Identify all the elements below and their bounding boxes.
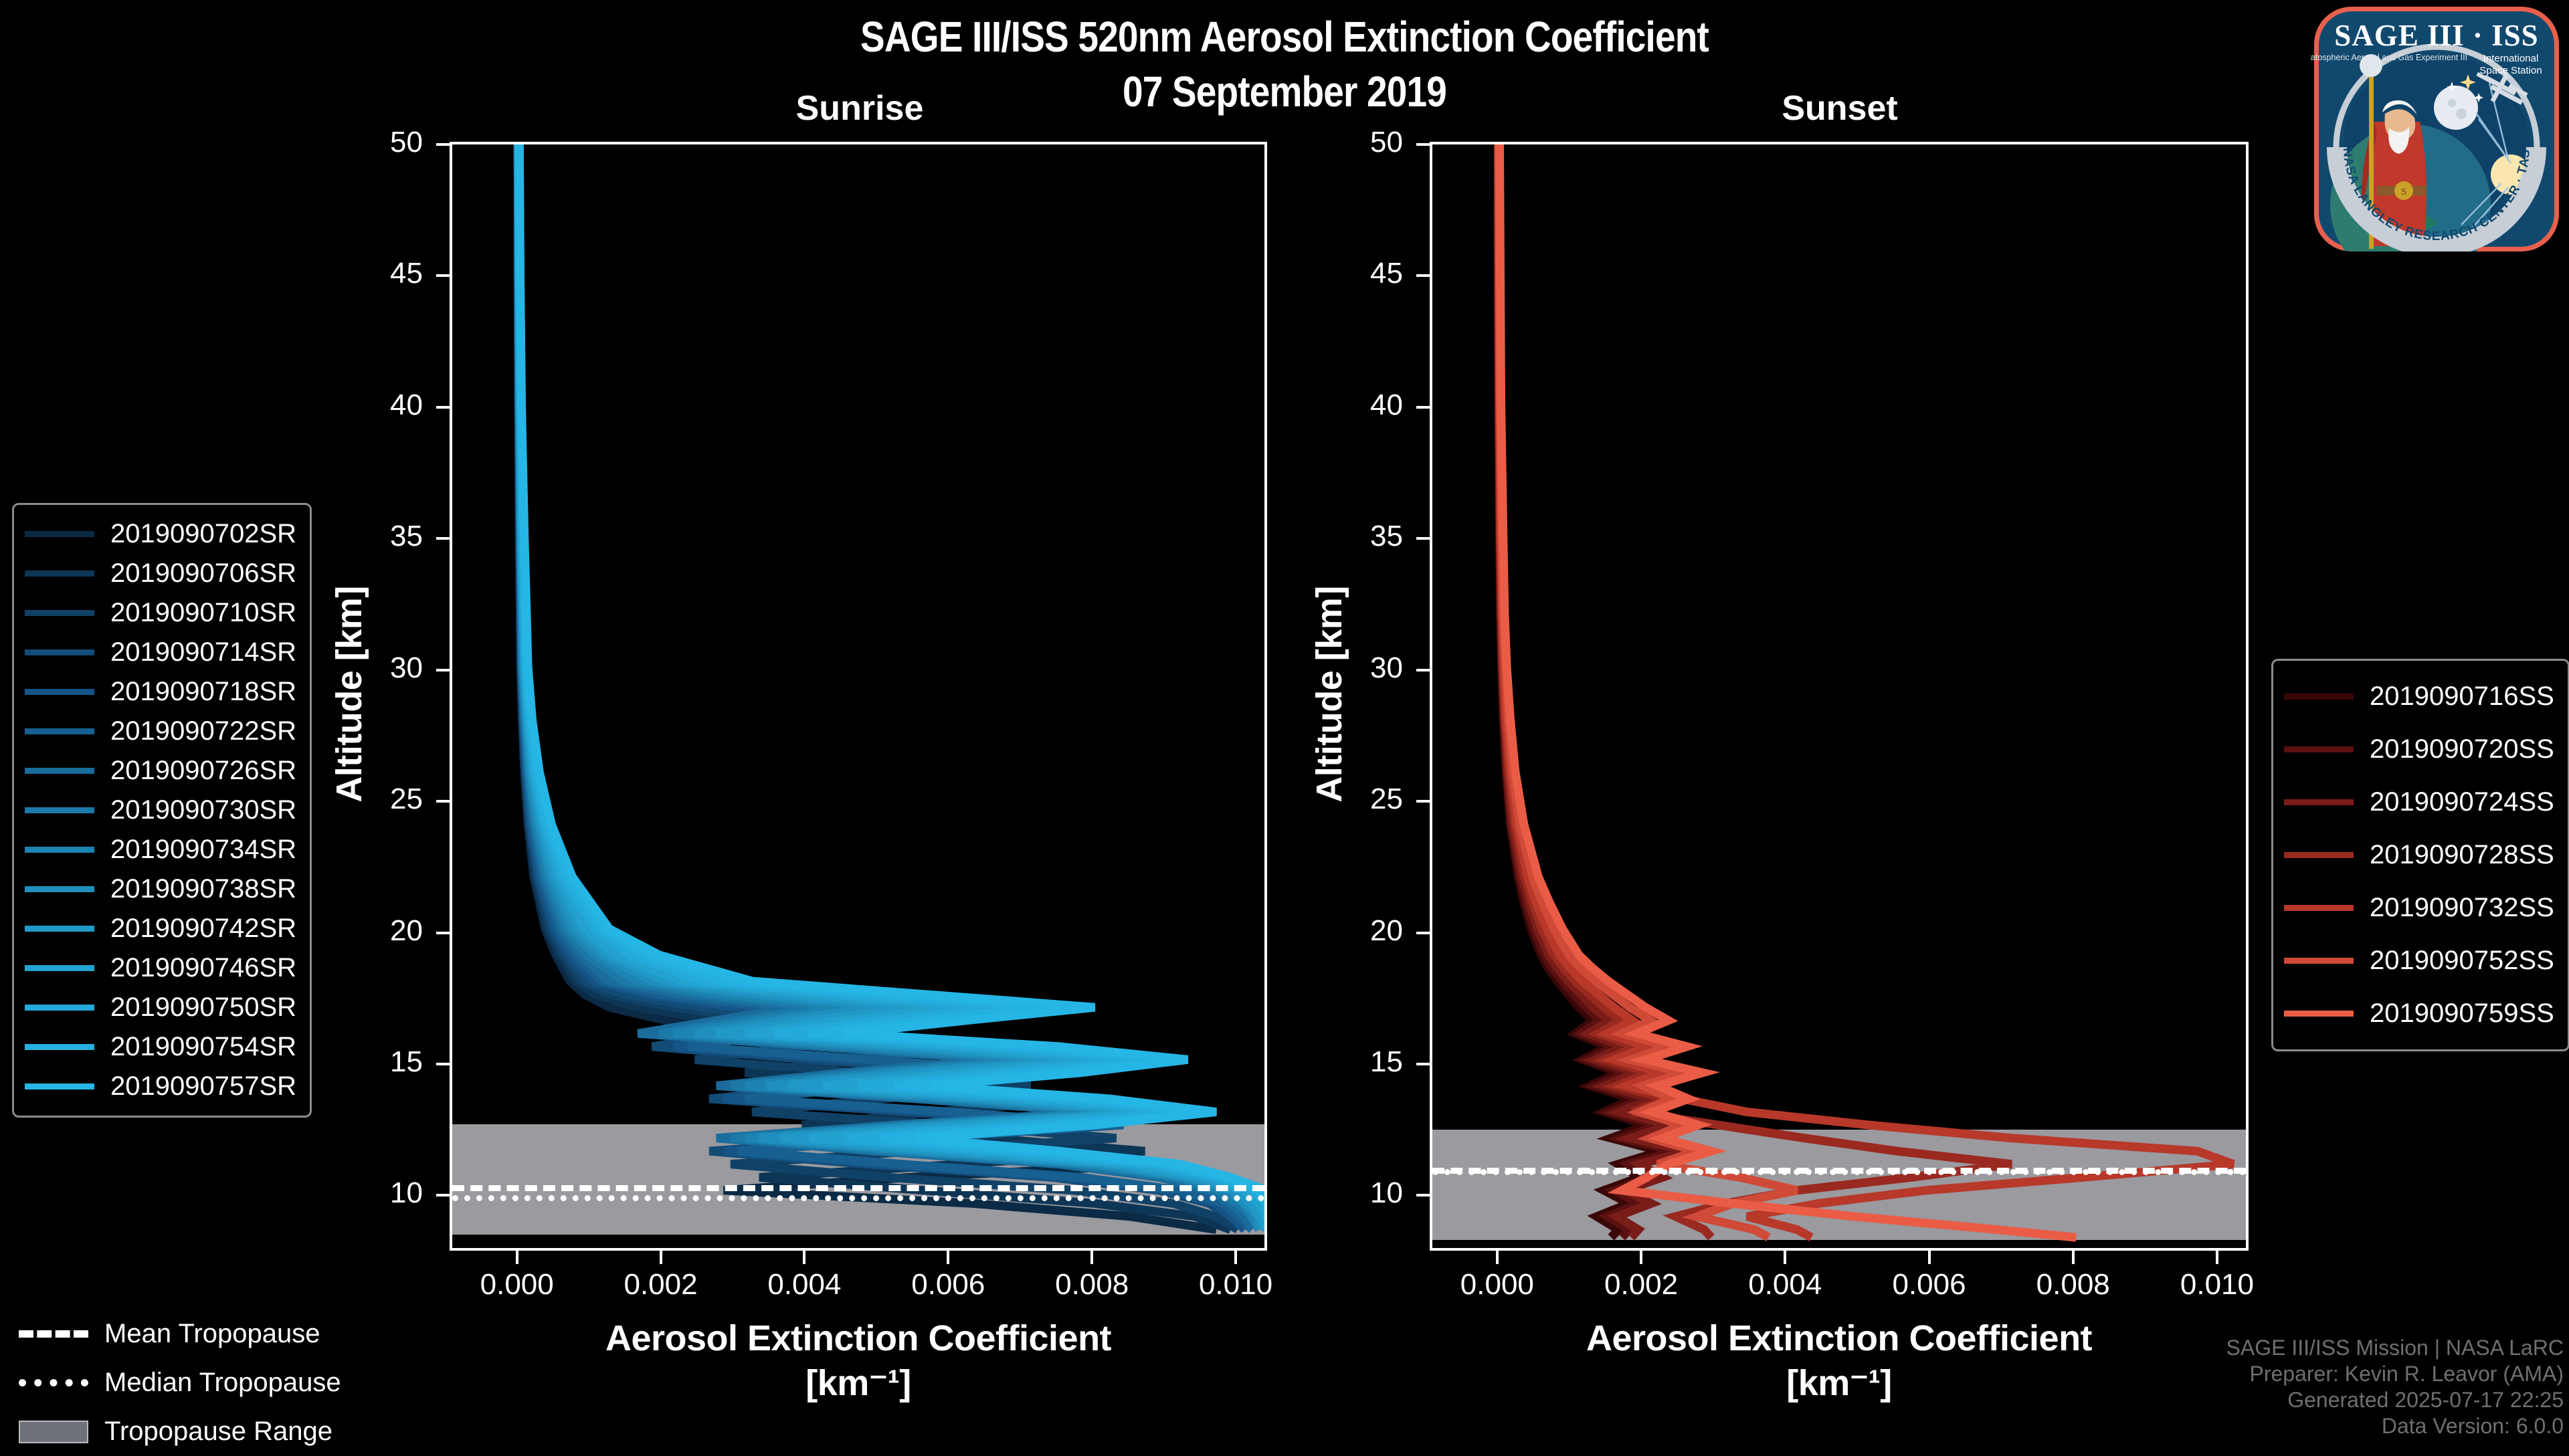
plot-area-sunset (1430, 142, 2249, 1251)
x-axis-tick (803, 1249, 805, 1264)
legend-item-label: 2019090726SR (110, 756, 296, 786)
legend-item[interactable]: 2019090710SR (25, 593, 296, 633)
legend-item[interactable]: 2019090738SR (25, 869, 296, 909)
legend-item-label: 2019090752SS (2370, 946, 2554, 976)
y-axis-tick (1416, 143, 1431, 146)
y-axis-tick-label: 20 (1296, 914, 1403, 948)
legend-item-label: 2019090730SR (110, 795, 296, 825)
x-axis-tick-label: 0.000 (437, 1268, 597, 1302)
x-axis-tick (1090, 1249, 1093, 1264)
legend-item-label: Mean Tropopause (104, 1319, 320, 1349)
legend-color-swatch (25, 570, 94, 577)
legend-color-swatch (2284, 905, 2354, 911)
x-axis-tick (2072, 1249, 2075, 1264)
legend-item-label: 2019090718SR (110, 677, 296, 707)
y-axis-tick (1416, 406, 1431, 409)
legend-item-label: 2019090738SR (110, 874, 296, 904)
legend-item-label: 2019090734SR (110, 835, 296, 865)
median-tropopause-swatch (19, 1379, 88, 1386)
y-axis-title: Altitude [km] (1309, 560, 1350, 828)
x-axis-unit: [km⁻¹] (1404, 1362, 2274, 1404)
x-axis-tick-label: 0.002 (581, 1268, 741, 1302)
legend-item[interactable]: 2019090722SR (25, 712, 296, 751)
profile-line (1500, 144, 2077, 1237)
legend-color-swatch (25, 1083, 94, 1089)
x-axis-tick-label: 0.004 (1705, 1268, 1865, 1302)
legend-color-swatch (25, 847, 94, 853)
y-axis-tick-label: 40 (1296, 389, 1403, 422)
y-axis-tick (436, 1063, 451, 1065)
legend-item-label: Median Tropopause (104, 1368, 341, 1398)
y-axis-tick (1416, 1063, 1431, 1065)
panel-subtitle-sunrise: Sunrise (726, 88, 993, 128)
y-axis-tick (1416, 669, 1431, 671)
legend-color-swatch (2284, 1011, 2354, 1017)
legend-item: Tropopause Range (19, 1407, 341, 1456)
x-axis-tick-label: 0.010 (1155, 1268, 1316, 1302)
x-axis-tick (2216, 1249, 2218, 1264)
y-axis-tick (436, 274, 451, 277)
legend-color-swatch (25, 886, 94, 892)
legend-color-swatch (25, 926, 94, 932)
legend-item-label: 2019090750SR (110, 993, 296, 1023)
y-axis-tick-label: 50 (316, 126, 423, 159)
x-axis-title-text: Aerosol Extinction Coefficient (1586, 1318, 2092, 1358)
sage-iii-iss-mission-patch-logo: S BALL · NASA LANGLEY RESEARCH CENTER · … (2310, 4, 2563, 254)
x-axis-tick-label: 0.006 (868, 1268, 1028, 1302)
legend-item[interactable]: 2019090754SR (25, 1027, 296, 1067)
legend-item-label: 2019090710SR (110, 598, 296, 628)
legend-item-label: 2019090732SS (2370, 893, 2554, 923)
y-axis-tick-label: 45 (316, 257, 423, 290)
legend-item-label: 2019090759SS (2370, 999, 2554, 1029)
y-axis-tick-label: 10 (316, 1176, 423, 1210)
legend-item-label: 2019090754SR (110, 1032, 296, 1062)
tropopause-range-swatch (19, 1421, 88, 1443)
legend-color-swatch (25, 689, 94, 695)
legend-color-swatch (25, 728, 94, 734)
legend-item-label: 2019090746SR (110, 953, 296, 983)
legend-color-swatch (25, 1044, 94, 1050)
legend-item[interactable]: 2019090716SS (2284, 670, 2554, 723)
logo-subtitle-left: Stratospheric Aerosol and Gas Experiment… (2310, 53, 2467, 62)
y-axis-tick-label: 35 (316, 520, 423, 553)
plot-area-sunrise (450, 142, 1267, 1251)
legend-item-label: 2019090714SR (110, 637, 296, 667)
legend-item[interactable]: 2019090730SR (25, 791, 296, 830)
x-axis-tick (1496, 1249, 1499, 1264)
legend-item-label: 2019090742SR (110, 914, 296, 944)
legend-item-label: 2019090724SS (2370, 787, 2554, 817)
legend-color-swatch (25, 649, 94, 655)
legend-item[interactable]: 2019090726SR (25, 751, 296, 791)
x-axis-tick-label: 0.010 (2137, 1268, 2297, 1302)
y-axis-tick (1416, 537, 1431, 540)
legend-color-swatch (25, 610, 94, 616)
x-axis-tick-label: 0.008 (1993, 1268, 2154, 1302)
legend-color-swatch (2284, 852, 2354, 858)
y-axis-tick (1416, 274, 1431, 277)
x-axis-tick (516, 1249, 518, 1264)
legend-color-swatch (2284, 746, 2354, 752)
y-axis-tick (436, 143, 451, 146)
legend-item[interactable]: 2019090759SS (2284, 987, 2554, 1040)
credits-block: SAGE III/ISS Mission | NASA LaRCPreparer… (2226, 1335, 2564, 1439)
legend-item[interactable]: 2019090752SS (2284, 934, 2554, 987)
y-axis-tick (436, 406, 451, 409)
logo-subtitle-right-line1: International (2483, 53, 2539, 64)
median-tropopause-line-sunset (1432, 1169, 2246, 1175)
x-axis-tick-label: 0.008 (1012, 1268, 1172, 1302)
legend-item: Median Tropopause (19, 1358, 341, 1407)
legend-item[interactable]: 2019090742SR (25, 909, 296, 948)
legend-sunset: 2019090716SS2019090720SS2019090724SS2019… (2271, 659, 2569, 1051)
y-axis-tick-label: 15 (316, 1045, 423, 1079)
logo-title: SAGE III · ISS (2334, 19, 2538, 52)
logo-subtitle-right-line2: Space Station (2479, 65, 2542, 76)
x-axis-tick (1234, 1249, 1237, 1264)
y-axis-tick-label: 20 (316, 914, 423, 948)
y-axis-tick (436, 669, 451, 671)
x-axis-unit: [km⁻¹] (423, 1362, 1293, 1404)
y-axis-tick-label: 10 (1296, 1176, 1403, 1210)
y-axis-tick-label: 45 (1296, 257, 1403, 290)
y-axis-title: Altitude [km] (328, 560, 370, 828)
legend-item[interactable]: 2019090732SS (2284, 881, 2554, 934)
profile-line (1498, 144, 2012, 1237)
legend-item-label: 2019090728SS (2370, 840, 2554, 870)
credits-line: SAGE III/ISS Mission | NASA LaRC (2226, 1335, 2564, 1361)
x-axis-tick (947, 1249, 949, 1264)
panel-subtitle-sunset: Sunset (1706, 88, 1974, 128)
legend-item-label: 2019090722SR (110, 716, 296, 746)
page-title-line2: 07 September 2019 (180, 67, 2389, 116)
x-axis-title-text: Aerosol Extinction Coefficient (605, 1318, 1111, 1358)
credits-line: Data Version: 6.0.0 (2226, 1413, 2564, 1439)
legend-color-swatch (25, 807, 94, 813)
legend-sunrise: 2019090702SR2019090706SR2019090710SR2019… (12, 503, 312, 1118)
legend-item[interactable]: 2019090757SR (25, 1067, 296, 1106)
mean-tropopause-line-sunrise (452, 1185, 1264, 1191)
mean-tropopause-swatch (19, 1330, 88, 1338)
y-axis-tick (436, 932, 451, 934)
legend-item-label: 2019090716SS (2370, 682, 2554, 712)
legend-color-swatch (25, 965, 94, 971)
legend-item[interactable]: 2019090720SS (2284, 723, 2554, 776)
legend-color-swatch (25, 1005, 94, 1011)
x-axis-tick (1784, 1249, 1786, 1264)
y-axis-tick (436, 800, 451, 803)
y-axis-tick (1416, 932, 1431, 934)
y-axis-tick-label: 35 (1296, 520, 1403, 553)
legend-item-label: 2019090720SS (2370, 734, 2554, 764)
y-axis-tick (1416, 800, 1431, 803)
legend-item[interactable]: 2019090734SR (25, 830, 296, 869)
y-axis-tick-label: 50 (1296, 126, 1403, 159)
svg-text:S: S (2401, 187, 2406, 197)
legend-item-label: 2019090706SR (110, 558, 296, 589)
page-title-line1: SAGE III/ISS 520nm Aerosol Extinction Co… (180, 12, 2389, 62)
median-tropopause-line-sunrise (452, 1195, 1264, 1201)
y-axis-tick-label: 15 (1296, 1045, 1403, 1079)
legend-item[interactable]: 2019090728SS (2284, 829, 2554, 881)
legend-item-label: 2019090702SR (110, 519, 296, 549)
x-axis-tick-label: 0.006 (1849, 1268, 2010, 1302)
x-axis-tick-label: 0.000 (1417, 1268, 1578, 1302)
legend-item-label: Tropopause Range (104, 1417, 332, 1447)
legend-color-swatch (2284, 958, 2354, 964)
x-axis-tick (1928, 1249, 1931, 1264)
x-axis-tick-label: 0.002 (1561, 1268, 1721, 1302)
legend-item[interactable]: 2019090750SR (25, 988, 296, 1027)
y-axis-tick-label: 40 (316, 389, 423, 422)
legend-color-swatch (25, 768, 94, 774)
legend-item[interactable]: 2019090714SR (25, 633, 296, 672)
x-axis-tick (1640, 1249, 1642, 1264)
legend-item-label: 2019090757SR (110, 1071, 296, 1102)
legend-item[interactable]: 2019090724SS (2284, 776, 2554, 829)
y-axis-tick (436, 1194, 451, 1197)
legend-tropopause: Mean TropopauseMedian TropopauseTropopau… (19, 1310, 341, 1456)
legend-item: Mean Tropopause (19, 1310, 341, 1358)
credits-line: Preparer: Kevin R. Leavor (AMA) (2226, 1361, 2564, 1387)
x-axis-title: Aerosol Extinction Coefficient[km⁻¹] (1404, 1318, 2274, 1404)
legend-item[interactable]: 2019090718SR (25, 672, 296, 712)
legend-item[interactable]: 2019090706SR (25, 554, 296, 593)
profile-curves-sunrise (452, 144, 1264, 1248)
profile-curves-sunset (1432, 144, 2246, 1248)
legend-item[interactable]: 2019090702SR (25, 514, 296, 554)
legend-color-swatch (2284, 799, 2354, 805)
credits-line: Generated 2025-07-17 22:25 (2226, 1387, 2564, 1413)
x-axis-title: Aerosol Extinction Coefficient[km⁻¹] (423, 1318, 1293, 1404)
legend-color-swatch (25, 531, 94, 537)
y-axis-tick (1416, 1194, 1431, 1197)
x-axis-tick-label: 0.004 (724, 1268, 884, 1302)
x-axis-tick (660, 1249, 662, 1264)
legend-color-swatch (2284, 694, 2354, 700)
legend-item[interactable]: 2019090746SR (25, 948, 296, 988)
y-axis-tick (436, 537, 451, 540)
